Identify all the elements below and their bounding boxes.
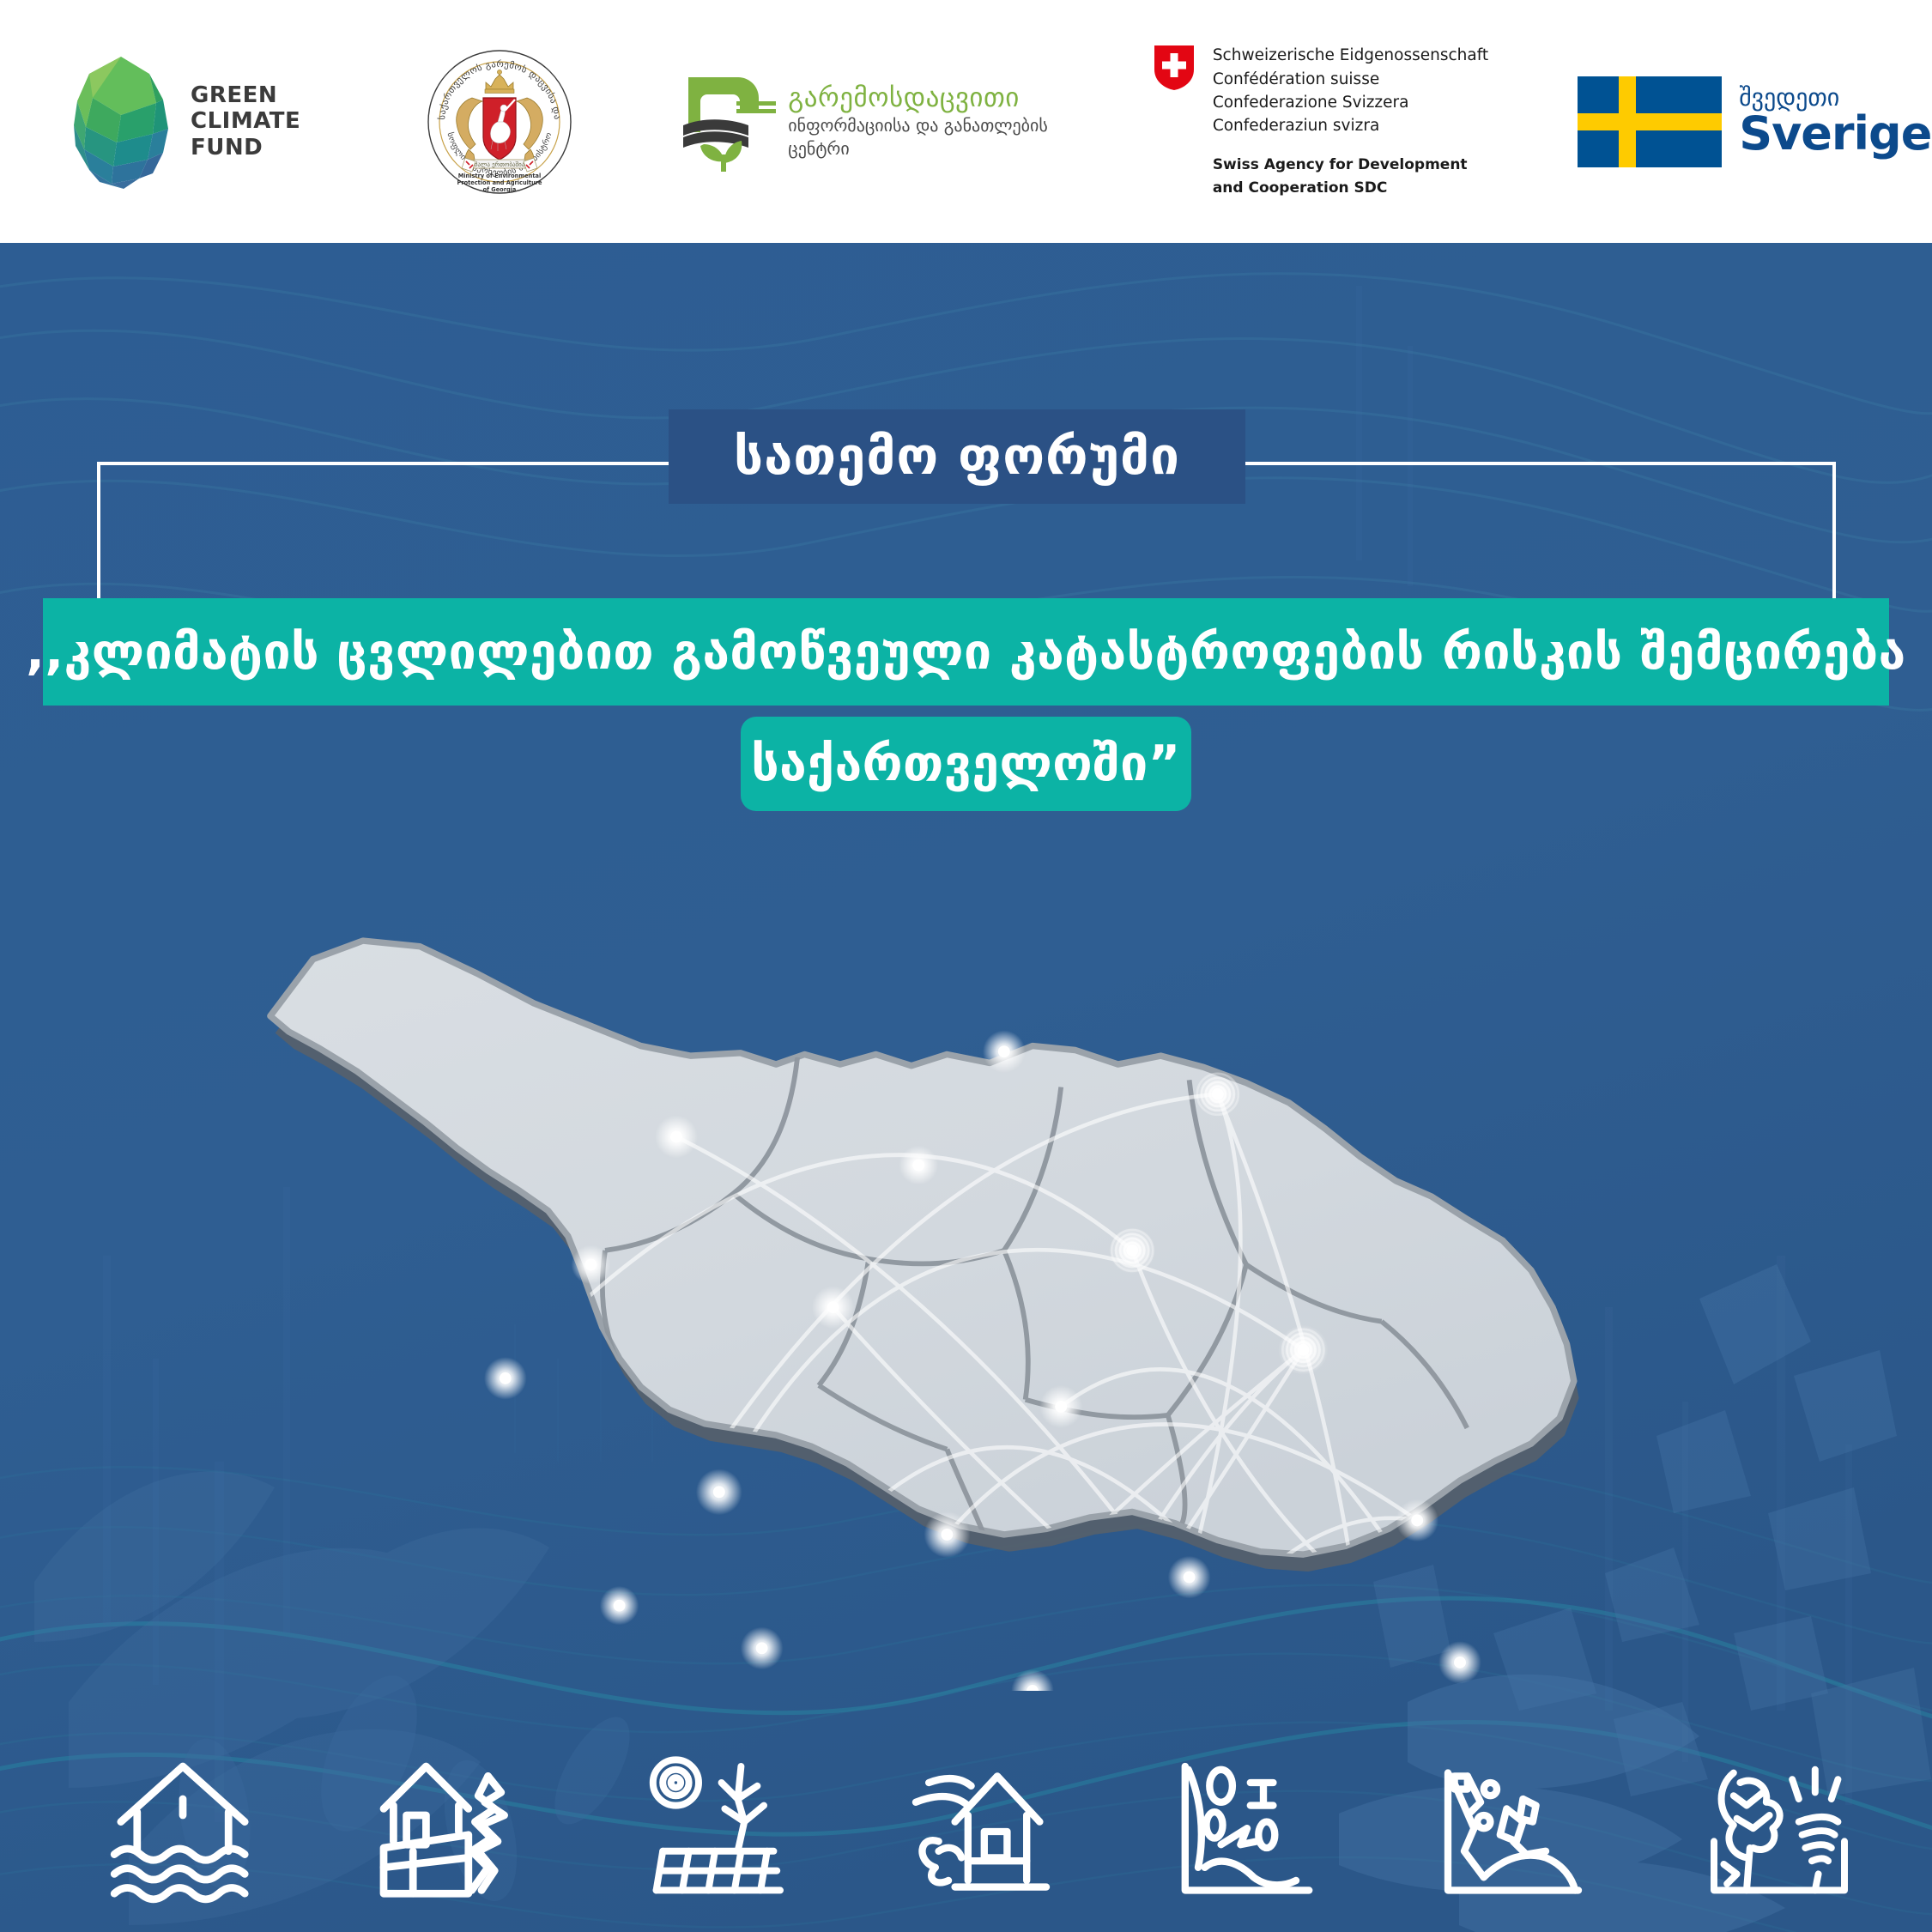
map-node[interactable] <box>912 1160 924 1172</box>
logo-green-climate-fund: GREEN CLIMATE FUND <box>67 53 300 191</box>
svg-text:ძალა ერთობაშია: ძალა ერთობაშია <box>475 160 525 168</box>
swiss-line-1: Schweizerische Eidgenossenschaft <box>1213 44 1488 67</box>
map-node[interactable] <box>827 1301 839 1313</box>
georgia-map-svg <box>249 867 1674 1691</box>
map-node[interactable] <box>1411 1514 1423 1526</box>
map-node[interactable] <box>1454 1656 1466 1669</box>
gcf-sphere-icon <box>67 53 175 191</box>
frame-line-right-vertical <box>1832 462 1836 601</box>
map-node[interactable] <box>1212 1088 1224 1100</box>
map-node[interactable] <box>500 1372 512 1384</box>
headline-band-primary: ,,კლიმატის ცვლილებით გამოწვეული კატასტრო… <box>43 598 1889 706</box>
eiec-wordmark: გარემოსდაცვითი ინფორმაციისა და განათლები… <box>788 85 1048 159</box>
map-node[interactable] <box>584 1258 597 1270</box>
gcf-line-1: GREEN <box>191 82 300 108</box>
gcf-wordmark: GREEN CLIMATE FUND <box>191 82 300 160</box>
kicker-badge: სათემო ფორუმი <box>669 409 1245 504</box>
swiss-line-4: Confederaziun svizra <box>1213 114 1488 137</box>
swiss-wordmark: Schweizerische Eidgenossenschaft Confédé… <box>1213 44 1488 198</box>
map-node[interactable] <box>614 1600 626 1612</box>
flood-icon <box>101 1750 264 1913</box>
gcf-line-3: FUND <box>191 135 300 160</box>
seal-en-line-1: Ministry of Environmental <box>458 173 542 179</box>
swiss-line-3: Confederazione Svizzera <box>1213 91 1488 114</box>
logo-swiss-sdc: Schweizerische Eidgenossenschaft Confédé… <box>1154 44 1488 198</box>
sweden-wordmark: შვედეთი Sverige <box>1739 86 1931 157</box>
map-node[interactable] <box>1126 1245 1138 1257</box>
map-node[interactable] <box>1184 1572 1196 1584</box>
partner-logo-bar: GREEN CLIMATE FUND საქართველოს გარემოს დ… <box>0 0 1932 243</box>
eiec-book-icon <box>683 72 778 172</box>
map-node[interactable] <box>670 1131 682 1143</box>
logo-ministry-of-environment-georgia: საქართველოს გარემოს დაცვისა და სოფლის მე… <box>426 48 573 196</box>
swiss-agency-line-2: and Cooperation SDC <box>1213 178 1488 199</box>
windstorm-icon <box>899 1750 1063 1913</box>
map-node[interactable] <box>1055 1401 1067 1413</box>
headline-line-1: ,,კლიმატის ცვლილებით გამოწვეული კატასტრო… <box>26 624 1906 681</box>
sweden-flag-icon <box>1578 76 1722 167</box>
map-node[interactable] <box>941 1529 953 1541</box>
eiec-line-2: ინფორმაციისა და განათლების <box>788 116 1048 135</box>
map-node[interactable] <box>713 1486 725 1498</box>
landslide-icon <box>1432 1750 1595 1913</box>
eiec-line-3: ცენტრი <box>788 139 1048 158</box>
avalanche-icon <box>1166 1750 1329 1913</box>
headline-line-2: საქართველოში” <box>751 736 1181 792</box>
wildfire-tornado-icon <box>1698 1750 1861 1913</box>
seal-en-line-2: Protection and Agriculture <box>457 179 543 186</box>
logo-environmental-information-education-centre: გარემოსდაცვითი ინფორმაციისა და განათლები… <box>683 72 1048 172</box>
hazard-icon-row <box>0 1750 1932 1913</box>
map-node[interactable] <box>1297 1344 1309 1356</box>
gcf-line-2: CLIMATE <box>191 108 300 134</box>
swiss-line-2: Confédération suisse <box>1213 68 1488 91</box>
frame-line-left <box>97 462 674 465</box>
kicker-text: სათემო ფორუმი <box>734 427 1180 487</box>
logo-sweden: შვედეთი Sverige <box>1578 76 1931 167</box>
swiss-cross-shield-icon <box>1154 45 1194 90</box>
frame-line-left-vertical <box>97 462 100 601</box>
seal-en-line-3: of Georgia <box>483 186 517 193</box>
georgia-coat-of-arms-icon: საქართველოს გარემოს დაცვისა და სოფლის მე… <box>426 48 573 196</box>
earthquake-icon <box>367 1750 530 1913</box>
poster-root: GREEN CLIMATE FUND საქართველოს გარემოს დ… <box>0 0 1932 1932</box>
headline-band-secondary: საქართველოში” <box>741 717 1191 811</box>
swiss-agency-line-1: Swiss Agency for Development <box>1213 154 1488 176</box>
frame-line-right <box>1242 462 1836 465</box>
map-of-georgia <box>249 867 1674 1691</box>
eiec-line-1: გარემოსდაცვითი <box>788 85 1048 112</box>
map-node[interactable] <box>998 1045 1010 1057</box>
map-node[interactable] <box>756 1642 768 1654</box>
drought-icon <box>633 1750 796 1913</box>
sweden-label-en: Sverige <box>1739 110 1931 157</box>
